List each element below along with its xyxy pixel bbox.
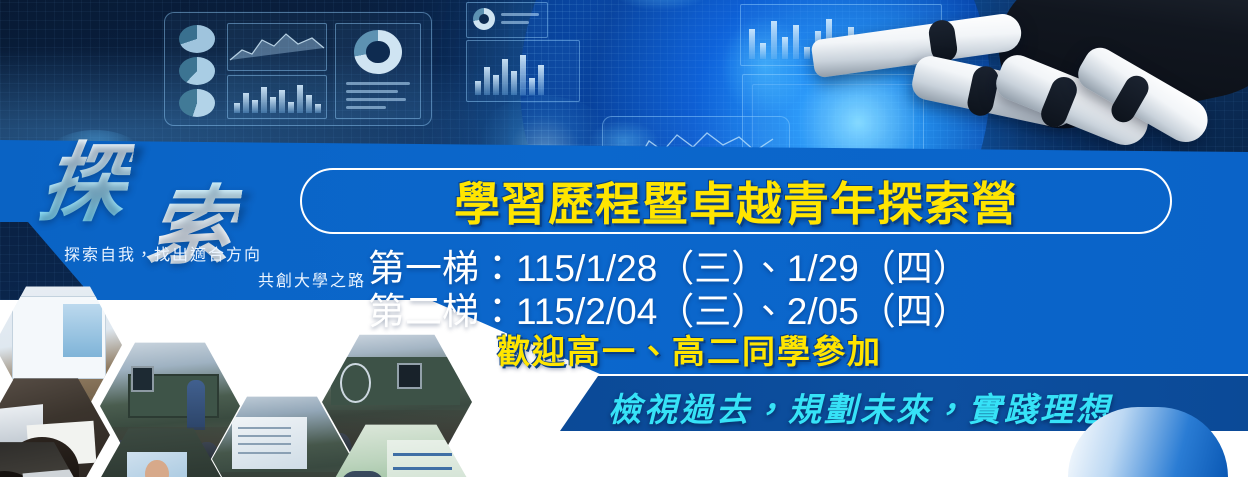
slogan-text: 檢視過去，規劃未來，實踐理想 [608, 383, 1112, 431]
text-line [346, 98, 406, 101]
promo-banner: 探 索 探索自我，找出適合方向 共創大學之路 學習歷程暨卓越青年探索營 第一梯：… [0, 0, 1248, 477]
hud-panel-icon [466, 2, 548, 38]
bar-chart-icon [227, 75, 327, 119]
pie-chart-icon [179, 57, 215, 85]
subtitle-block: 探索自我，找出適合方向 共創大學之路 [58, 243, 370, 295]
pie-chart-icon [179, 89, 215, 117]
audience-rows [212, 472, 352, 477]
pie-chart-icon [179, 25, 215, 53]
presenter-figure [341, 471, 384, 477]
whiteboard-panel [387, 440, 467, 477]
text-line [501, 21, 529, 24]
subtitle-line-2: 共創大學之路 [58, 269, 370, 295]
wall-clock [340, 363, 371, 403]
monitor [397, 363, 422, 389]
poster-skyline [63, 304, 101, 358]
donut-chart-icon [354, 30, 402, 74]
area-chart-svg [228, 24, 326, 70]
presentation-slide [232, 417, 308, 469]
subtitle-line-1: 探索自我，找出適合方向 [58, 243, 370, 269]
text-line [346, 106, 386, 109]
text-line [346, 82, 410, 85]
report-panel-icon [335, 23, 421, 119]
line-chart-icon [227, 23, 327, 71]
bar-group [234, 83, 321, 113]
teacher-figure [187, 380, 205, 430]
bar-group [475, 53, 544, 95]
hud-panel-icon [466, 40, 580, 102]
monitor [131, 366, 155, 391]
welcome-notice: 歡迎高一、高二同學參加 [497, 325, 882, 373]
text-line [346, 90, 398, 93]
hud-panel-icon [164, 12, 432, 126]
text-line [501, 13, 539, 16]
donut-chart-icon [473, 8, 495, 30]
event-title: 學習歷程暨卓越青年探索營 [454, 168, 1018, 234]
event-title-pill: 學習歷程暨卓越青年探索營 [300, 168, 1172, 234]
